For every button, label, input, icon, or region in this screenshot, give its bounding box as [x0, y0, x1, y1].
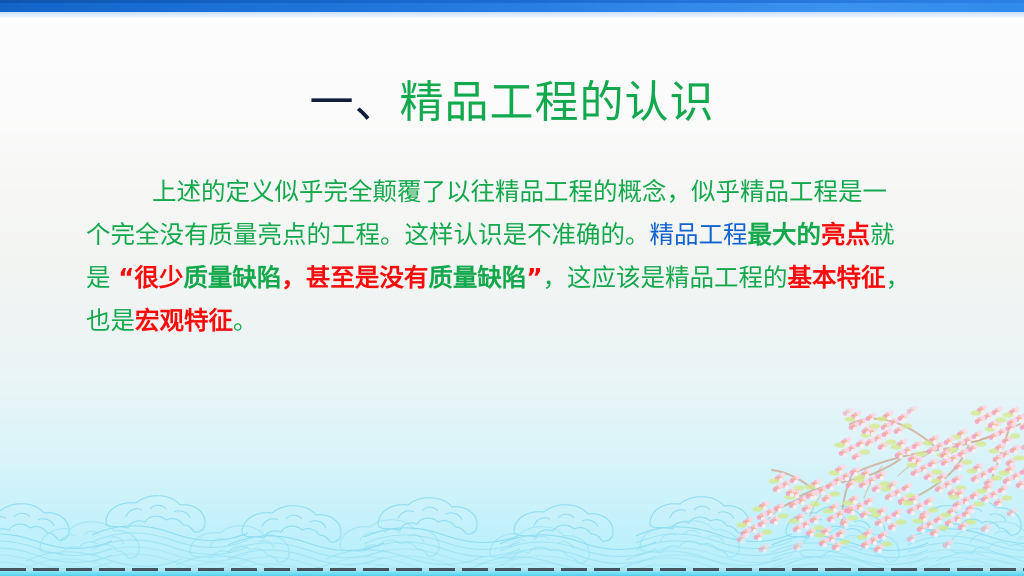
text-run: ， — [281, 263, 306, 292]
title-number: 一、 — [310, 77, 400, 128]
text-run: 宏观特征 — [135, 306, 233, 335]
text-run: 上述的定义似乎完全颠覆了以往精品工程的概念，似乎精品工程是一 — [152, 177, 887, 206]
bottom-cyan-bar — [0, 571, 1024, 576]
text-run: 这应该是精品工程的 — [567, 263, 788, 292]
text-run: ” — [526, 263, 542, 292]
text-run: 是 — [86, 263, 111, 292]
body-line-1: 上述的定义似乎完全颠覆了以往精品工程的概念，似乎精品工程是一 — [86, 170, 958, 213]
text-run: 质量缺陷 — [183, 263, 281, 292]
text-run: “很少 — [118, 263, 183, 292]
text-run: 就 — [870, 220, 895, 249]
text-run: 个完全没有质量亮点的工程。这样认识是不准确的。 — [86, 220, 650, 249]
text-run: 也是 — [86, 306, 135, 335]
text-run: 最大的 — [748, 220, 822, 249]
body-line-3: 是 “很少质量缺陷，甚至是没有质量缺陷”，这应该是精品工程的基本特征， — [86, 256, 958, 299]
cherry-blossom-decoration — [702, 388, 1024, 568]
title-text: 精品工程的认识 — [400, 77, 715, 128]
wave-decoration — [0, 479, 1024, 571]
text-run: 。 — [233, 306, 258, 335]
text-run: 甚至是没有 — [306, 263, 429, 292]
wave-pattern-icon — [0, 479, 1024, 571]
top-blue-bar-highlight — [0, 0, 1024, 3]
text-run: 质量缺陷 — [428, 263, 526, 292]
top-blue-bar — [0, 0, 1024, 12]
text-run: ， — [886, 263, 911, 292]
text-run: 精品工程 — [650, 220, 748, 249]
text-run: 亮点 — [821, 220, 870, 249]
body-paragraph: 上述的定义似乎完全颠覆了以往精品工程的概念，似乎精品工程是一 个完全没有质量亮点… — [86, 170, 958, 342]
body-line-4: 也是宏观特征。 — [86, 299, 958, 342]
slide-canvas: 一、精品工程的认识 上述的定义似乎完全颠覆了以往精品工程的概念，似乎精品工程是一… — [0, 0, 1024, 576]
text-run: ， — [543, 263, 568, 292]
body-line-2: 个完全没有质量亮点的工程。这样认识是不准确的。精品工程最大的亮点就 — [86, 213, 958, 256]
cherry-blossom-icon — [702, 388, 1024, 568]
top-bar-glow — [0, 12, 1024, 18]
page-title: 一、精品工程的认识 — [0, 78, 1024, 129]
text-run: 基本特征 — [788, 263, 886, 292]
